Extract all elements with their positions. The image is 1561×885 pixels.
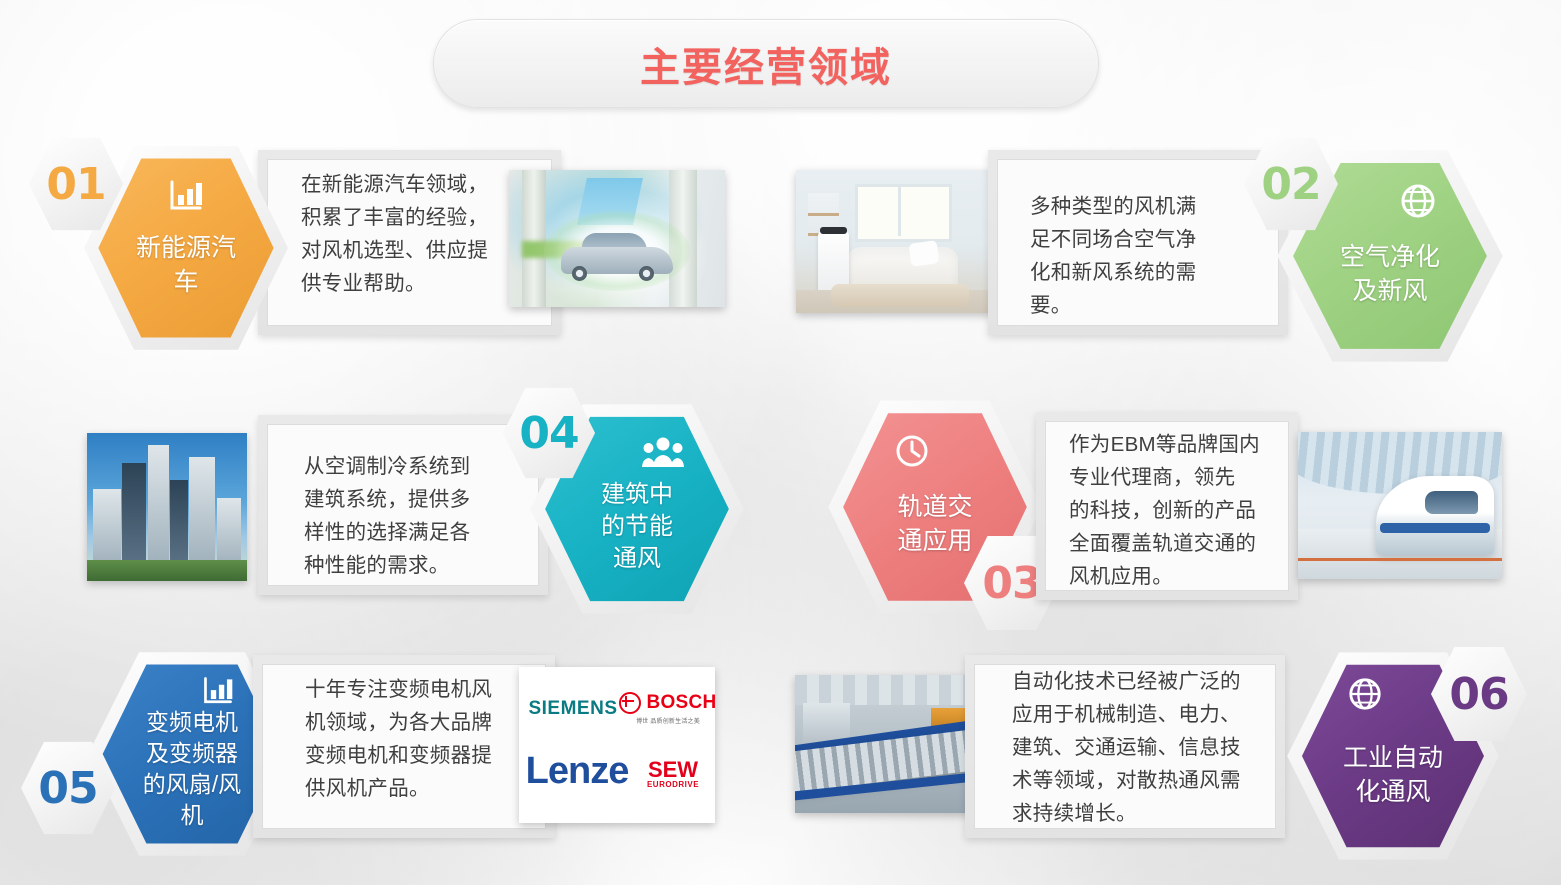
- skyscrapers-photo: [87, 433, 247, 581]
- section-06-badge: 06: [1430, 645, 1528, 743]
- section-01-title: 新能源汽 车: [130, 231, 242, 299]
- bosch-logo: BOSCH 博世 品质创新生活之美: [623, 681, 713, 735]
- section-06-badge-frame: 06: [1430, 645, 1528, 743]
- section-04-number: 04: [519, 408, 578, 459]
- siemens-logo: SIEMENS: [523, 689, 623, 729]
- section-06-number: 06: [1449, 669, 1508, 720]
- siemens-logo-text: SIEMENS: [528, 698, 617, 720]
- section-04-title: 建筑中 的节能 通风: [595, 479, 679, 575]
- section-05-body: 十年专注变频电机风 机领域，为各大品牌 变频电机和变频器提 供风机产品。: [305, 673, 529, 805]
- section-05-badge: 05: [20, 740, 116, 836]
- section-04-badge: 04: [502, 386, 596, 480]
- brand-logos-photo: SIEMENS BOSCH 博世 品质创新生活之美 Lenze SEW EURO…: [519, 667, 715, 823]
- section-06-title: 工业自动 化通风: [1337, 741, 1449, 809]
- bar-chart-icon: [201, 674, 235, 713]
- section-01-badge-frame: 01: [28, 136, 124, 232]
- living-room-purifier-photo: [796, 170, 993, 313]
- sew-logo: SEW EURODRIVE: [637, 749, 709, 799]
- section-02-title: 空气净化 及新风: [1334, 240, 1446, 308]
- eco-car-photo: [509, 170, 725, 307]
- section-02-badge-frame: 02: [1243, 136, 1339, 232]
- section-05-title: 变频电机 及变频器 的风扇/风 机: [137, 707, 247, 831]
- bosch-logo-text: BOSCH: [646, 692, 715, 714]
- section-02-number: 02: [1261, 159, 1320, 210]
- sew-logo-subtext: EURODRIVE: [647, 780, 699, 789]
- people-icon: [642, 436, 684, 475]
- section-02-badge: 02: [1243, 136, 1339, 232]
- bosch-logo-subtext: 博世 品质创新生活之美: [636, 716, 700, 725]
- globe-icon: [1399, 182, 1437, 225]
- section-01-badge: 01: [28, 136, 124, 232]
- page-title-pill: 主要经营领域: [433, 19, 1099, 108]
- section-01-number: 01: [46, 159, 105, 210]
- maglev-train-photo: [1298, 432, 1502, 579]
- section-06-body: 自动化技术已经被广泛的 应用于机械制造、电力、 建筑、交通运输、信息技 术等领域…: [1012, 665, 1274, 830]
- sew-logo-text: SEW: [648, 760, 698, 780]
- lenze-logo: Lenze: [521, 743, 633, 799]
- lenze-logo-text: Lenze: [526, 750, 629, 793]
- section-04-body: 从空调制冷系统到 建筑系统，提供多 样性的选择满足各 种性能的需求。: [304, 450, 534, 582]
- infographic-canvas: 主要经营领域 在新能源汽车领域， 积累了丰富的经验， 对风机选型、供应提 供专业…: [0, 0, 1561, 885]
- section-03-number: 03: [982, 558, 1041, 609]
- globe-icon: [1347, 676, 1383, 717]
- section-02-body: 多种类型的风机满 足不同场合空气净 化和新风系统的需 要。: [1030, 190, 1260, 322]
- clock-icon: [894, 433, 930, 474]
- section-01-body: 在新能源汽车领域， 积累了丰富的经验， 对风机选型、供应提 供专业帮助。: [301, 168, 537, 300]
- section-05-number: 05: [38, 763, 97, 814]
- section-03-body: 作为EBM等品牌国内 专业代理商，领先 的科技，创新的产品 全面覆盖轨道交通的 …: [1069, 428, 1285, 593]
- bosch-mark-icon: [619, 692, 641, 714]
- section-05-badge-frame: 05: [20, 740, 116, 836]
- section-04-badge-frame: 04: [502, 386, 596, 480]
- page-title: 主要经营领域: [640, 35, 892, 93]
- bar-chart-icon: [167, 177, 205, 220]
